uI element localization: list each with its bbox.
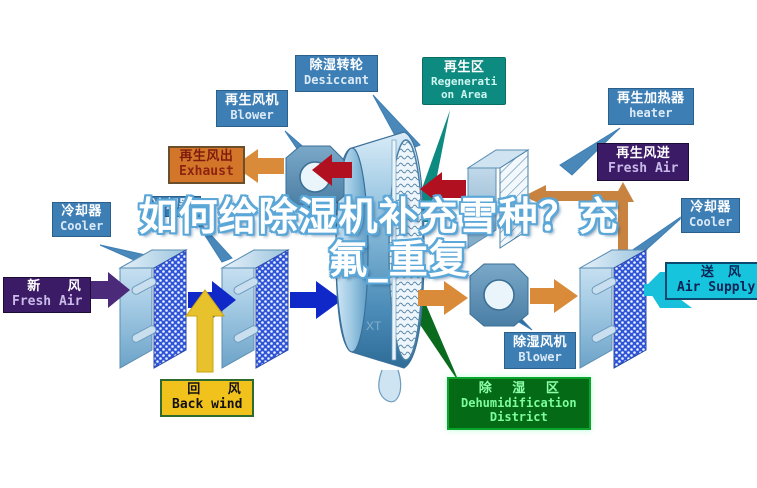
label-process-fresh-air[interactable]: 新 风 Fresh Air: [3, 277, 91, 313]
label-desiccant-wheel-cn: 除湿转轮: [304, 59, 369, 74]
svg-text:XT: XT: [366, 319, 382, 333]
label-regen-blower-cn: 再生风机: [225, 94, 279, 109]
dehumidifier-diagram-page: XT: [0, 0, 757, 488]
label-desiccant-wheel[interactable]: 除湿转轮 Desiccant: [295, 55, 378, 92]
label-process-fresh-air-cn: 新 风: [12, 280, 82, 295]
label-dehumidification-district-cn: 除 湿 区: [461, 382, 577, 397]
cooler-coil-left: [120, 250, 186, 368]
label-air-supply-cn: 送 风: [677, 266, 755, 281]
label-dehumidification-district-en-2: District: [461, 411, 577, 425]
label-cooler-right-en: Cooler: [689, 216, 732, 230]
label-dehum-blower-cn: 除湿风机: [513, 336, 567, 351]
rotary-dehumidifier-schematic: XT: [0, 0, 757, 488]
dehum-arrow-2: [530, 279, 578, 313]
label-cooler-left-cn: 冷却器: [60, 205, 103, 220]
label-cooler-left[interactable]: 冷却器 Cooler: [52, 202, 111, 237]
regen-heater-block: [468, 150, 528, 248]
label-dehumidification-district[interactable]: 除 湿 区 Dehumidification District: [447, 377, 591, 430]
label-back-wind-en: Back wind: [172, 398, 242, 413]
cooler-coil-mid: [222, 250, 288, 368]
label-regeneration-area[interactable]: 再生区 Regenerati on Area: [422, 57, 506, 105]
label-regen-exhaust[interactable]: 再生风出 Exhaust: [168, 146, 245, 184]
label-regen-heater-en: heater: [617, 107, 685, 121]
label-regen-fresh-air-en: Fresh Air: [608, 162, 678, 177]
process-arrow-2: [290, 281, 342, 319]
label-regen-exhaust-cn: 再生风出: [179, 150, 234, 165]
label-cooler-mid-cn: 冷却器: [152, 199, 193, 214]
dehum-blower-unit: [470, 264, 528, 326]
label-regen-blower-en: Blower: [225, 109, 279, 123]
label-air-supply-en: Air Supply: [677, 281, 755, 296]
label-cooler-mid[interactable]: 冷却器: [144, 196, 201, 217]
label-dehum-blower-en: Blower: [513, 351, 567, 365]
label-regen-heater-cn: 再生加热器: [617, 92, 685, 107]
label-regeneration-area-cn: 再生区: [431, 61, 497, 76]
label-regen-fresh-air[interactable]: 再生风进 Fresh Air: [597, 143, 689, 181]
label-regen-exhaust-en: Exhaust: [179, 165, 234, 180]
label-regeneration-area-en-2: on Area: [431, 89, 497, 102]
label-back-wind[interactable]: 回 风 Back wind: [160, 379, 254, 417]
label-regen-fresh-air-cn: 再生风进: [608, 147, 678, 162]
label-cooler-right-cn: 冷却器: [689, 201, 732, 216]
cooler-coil-right: [580, 250, 646, 368]
label-dehumidification-district-en-1: Dehumidification: [461, 397, 577, 411]
label-regen-blower[interactable]: 再生风机 Blower: [216, 90, 288, 127]
label-cooler-left-en: Cooler: [60, 220, 103, 234]
label-process-fresh-air-en: Fresh Air: [12, 295, 82, 310]
label-air-supply[interactable]: 送 风 Air Supply: [665, 262, 757, 300]
label-regen-heater[interactable]: 再生加热器 heater: [608, 88, 694, 125]
label-desiccant-wheel-en: Desiccant: [304, 74, 369, 88]
label-back-wind-cn: 回 风: [172, 383, 242, 398]
label-cooler-right[interactable]: 冷却器 Cooler: [681, 198, 740, 233]
label-dehum-blower[interactable]: 除湿风机 Blower: [504, 332, 576, 369]
label-regeneration-area-en-1: Regenerati: [431, 76, 497, 89]
